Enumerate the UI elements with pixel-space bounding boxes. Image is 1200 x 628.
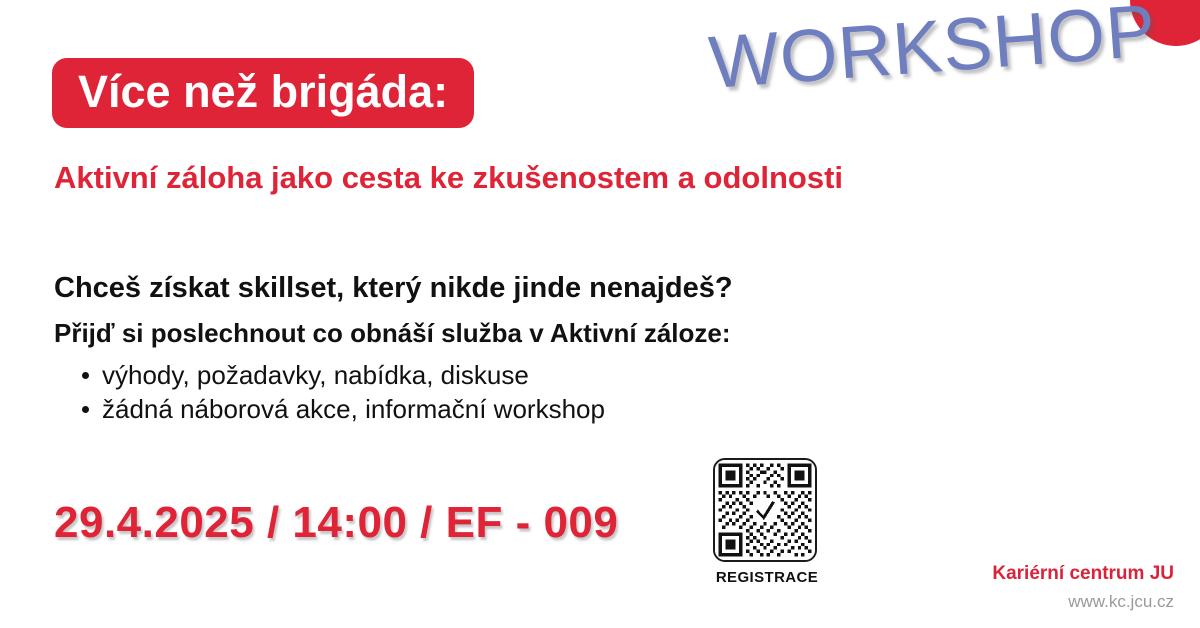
benefits-list: výhody, požadavky, nabídka, diskuse žádn… bbox=[74, 358, 605, 427]
qr-caption: REGISTRACE bbox=[713, 569, 821, 586]
cord-knots bbox=[768, 261, 1200, 416]
organisation-name: Kariérní centrum JU bbox=[992, 563, 1174, 585]
headline-badge: Více než brigáda: bbox=[52, 58, 474, 128]
workshop-wordmark: WORKSHOP bbox=[707, 0, 1159, 100]
czech-lion-emblem bbox=[1009, 371, 1051, 414]
bracelet-weave bbox=[768, 224, 1200, 421]
poster-canvas: WORKSHOP Více než brigáda: Aktivní záloh… bbox=[0, 0, 1200, 628]
blue-accent-cords bbox=[795, 261, 947, 392]
paracord-bracelet-photo: AKTIVNÍ ZÁLOHA bbox=[768, 214, 1200, 514]
event-datetime-location: 29.4.2025 / 14:00 / EF - 009 bbox=[54, 498, 618, 548]
red-white-accent-cords bbox=[1065, 287, 1200, 421]
bracelet-buckle bbox=[936, 234, 1200, 364]
subtitle: Aktivní záloha jako cesta ke zkušenostem… bbox=[54, 160, 843, 196]
lead-question: Chceš získat skillset, který nikde jinde… bbox=[54, 272, 733, 305]
registration-qr-block[interactable]: REGISTRACE bbox=[713, 458, 821, 586]
lead-invite: Přijď si poslechnout co obnáší služba v … bbox=[54, 318, 731, 349]
website-url[interactable]: www.kc.jcu.cz bbox=[1068, 592, 1174, 612]
headline-badge-label: Více než brigáda: bbox=[78, 69, 448, 114]
qr-center-checkmark-icon bbox=[753, 498, 777, 522]
qr-code[interactable] bbox=[713, 458, 817, 562]
list-item: výhody, požadavky, nabídka, diskuse bbox=[102, 358, 605, 392]
aktivni-zaloha-badge: AKTIVNÍ ZÁLOHA bbox=[955, 316, 1094, 428]
list-item: žádná náborová akce, informační workshop bbox=[102, 392, 605, 426]
badge-text: AKTIVNÍ ZÁLOHA bbox=[986, 316, 1058, 352]
